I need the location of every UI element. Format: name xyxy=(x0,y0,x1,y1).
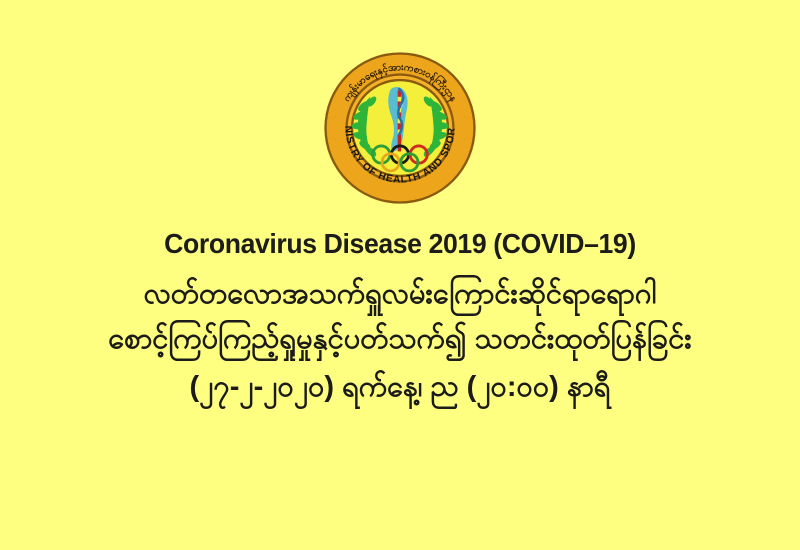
bottom-margin xyxy=(0,498,800,550)
announcement-text-block: Coronavirus Disease 2019 (COVID–19) လတ်တ… xyxy=(0,228,800,408)
page-title-english: Coronavirus Disease 2019 (COVID–19) xyxy=(20,228,780,260)
announcement-datetime-line: (၂၇-၂-၂၀၂၀) ရက်နေ့၊ ည (၂၀:၀၀) နာရီ xyxy=(0,367,800,408)
announcement-poster: ကျန်းမာရေးနှင့်အားကစားဝန်ကြီးဌာန MINISTR… xyxy=(0,0,800,550)
announcement-line-2: စောင့်ကြပ်ကြည့်ရှုမှုနှင့်ပတ်သက်၍ သတင်းထ… xyxy=(0,319,800,360)
announcement-line-1: လတ်တလောအသက်ရှူလမ်းကြောင်းဆိုင်ရာရောဂါ xyxy=(0,274,800,315)
seal-graphic: ကျန်းမာရေးနှင့်အားကစားဝန်ကြီးဌာန MINISTR… xyxy=(322,50,478,206)
ministry-seal-logo: ကျန်းမာရေးနှင့်အားကစားဝန်ကြီးဌာန MINISTR… xyxy=(322,50,478,206)
